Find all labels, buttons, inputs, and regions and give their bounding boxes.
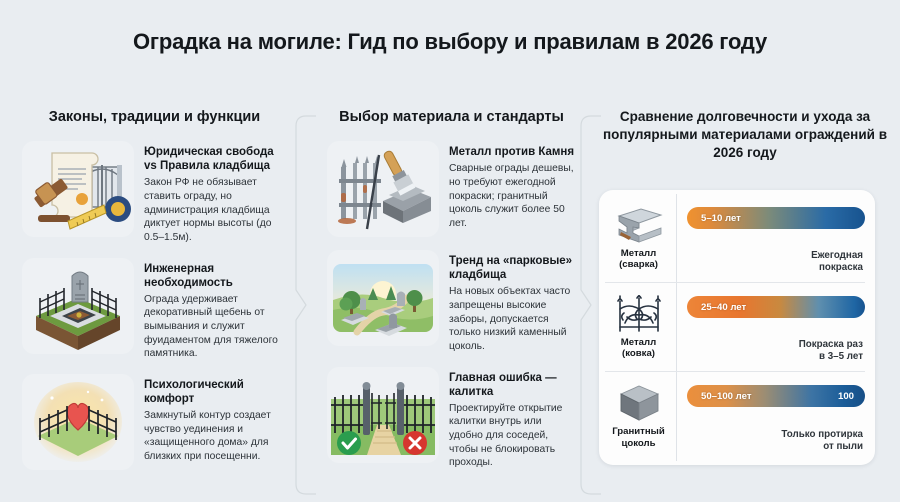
column-laws-heading: Законы, традиции и функции	[22, 108, 287, 127]
comparison-row-label: Гранитный цоколь	[605, 372, 677, 461]
comparison-row-note: Покраска раз в 3–5 лет	[687, 339, 865, 363]
bar-range-label: 50–100 лет	[701, 391, 752, 402]
feature-text: Тренд на «парковые» кладбища На новых об…	[449, 250, 576, 353]
durability-bar: 50–100 лет 100	[687, 385, 865, 407]
feature-title: Тренд на «парковые» кладбища	[449, 254, 576, 282]
comparison-row: Металл (сварка) 5–10 лет Ежегодная покра…	[605, 194, 865, 283]
column-comparison: Сравнение долговечности и ухода за попул…	[590, 108, 900, 502]
park-cemetery-icon	[327, 250, 439, 346]
durability-bar: 25–40 лет	[687, 296, 865, 318]
comparison-row-name: Металл (сварка)	[605, 248, 672, 271]
comparison-row-label: Металл (ковка)	[605, 283, 677, 371]
column-laws: Законы, традиции и функции	[0, 108, 305, 502]
columns-container: Законы, традиции и функции	[0, 108, 900, 502]
feature-body: На новых объектах часто запрещены высоки…	[449, 285, 576, 353]
feature-item: Главная ошибка — калитка Проектируйте от…	[327, 367, 576, 470]
feature-title: Металл против Камня	[449, 145, 576, 159]
comparison-row-note: Ежегодная покраска	[687, 250, 865, 274]
comparison-card: Металл (сварка) 5–10 лет Ежегодная покра…	[599, 190, 875, 465]
feature-body: Закон РФ не обязывает ставить ограду, но…	[144, 176, 287, 244]
feature-body: Замкнутый контур создает чувство уединен…	[144, 409, 287, 464]
steel-beam-icon	[613, 206, 665, 244]
feature-item: Юридическая свобода vs Правила кладбища …	[22, 141, 287, 244]
gate-check-cross-icon	[327, 367, 439, 463]
feature-item: Инженерная необходимость Ограда удержива…	[22, 258, 287, 361]
wrought-iron-fence-icon	[613, 295, 665, 333]
comparison-row: Гранитный цоколь 50–100 лет 100 Только п…	[605, 372, 865, 461]
column-materials: Выбор материала и стандарты	[305, 108, 590, 502]
bar-value-label: 100	[838, 391, 854, 402]
heart-fence-icon	[22, 374, 134, 470]
feature-title: Психологический комфорт	[144, 378, 287, 406]
feature-text: Инженерная необходимость Ограда удержива…	[144, 258, 287, 361]
feature-body: Ограда удерживает декоративный щебень от…	[144, 293, 287, 361]
comparison-row-name: Гранитный цоколь	[605, 426, 672, 449]
feature-text: Психологический комфорт Замкнутый контур…	[144, 374, 287, 464]
comparison-row-data: 25–40 лет Покраска раз в 3–5 лет	[677, 283, 865, 371]
comparison-heading: Сравнение долговечности и ухода за попул…	[598, 108, 892, 163]
durability-bar: 5–10 лет	[687, 207, 865, 229]
page-title: Оградка на могиле: Гид по выбору и прави…	[0, 0, 900, 55]
comparison-row-data: 5–10 лет Ежегодная покраска	[677, 194, 865, 282]
feature-title: Юридическая свобода vs Правила кладбища	[144, 145, 287, 173]
comparison-row-label: Металл (сварка)	[605, 194, 677, 282]
comparison-row-name: Металл (ковка)	[605, 337, 672, 360]
feature-body: Проектируйте открытие калитки внутрь или…	[449, 402, 576, 470]
feature-item: Металл против Камня Сварные ограды дешев…	[327, 141, 576, 237]
gavel-document-gate-icon	[22, 141, 134, 237]
bar-range-label: 25–40 лет	[701, 302, 746, 313]
comparison-row: Металл (ковка) 25–40 лет Покраска раз в …	[605, 283, 865, 372]
feature-text: Металл против Камня Сварные ограды дешев…	[449, 141, 576, 230]
comparison-row-note: Только протирка от пыли	[687, 429, 865, 453]
feature-title: Главная ошибка — калитка	[449, 371, 576, 399]
bar-range-label: 5–10 лет	[701, 213, 741, 224]
feature-item: Тренд на «парковые» кладбища На новых об…	[327, 250, 576, 353]
feature-text: Юридическая свобода vs Правила кладбища …	[144, 141, 287, 244]
granite-block-icon	[613, 384, 665, 422]
feature-title: Инженерная необходимость	[144, 262, 287, 290]
feature-item: Психологический комфорт Замкнутый контур…	[22, 374, 287, 470]
comparison-row-data: 50–100 лет 100 Только протирка от пыли	[677, 372, 865, 461]
grave-plot-fence-icon	[22, 258, 134, 354]
feature-text: Главная ошибка — калитка Проектируйте от…	[449, 367, 576, 470]
fence-brush-granite-icon	[327, 141, 439, 237]
column-materials-heading: Выбор материала и стандарты	[327, 108, 576, 127]
feature-body: Сварные ограды дешевы, но требуют ежегод…	[449, 162, 576, 230]
